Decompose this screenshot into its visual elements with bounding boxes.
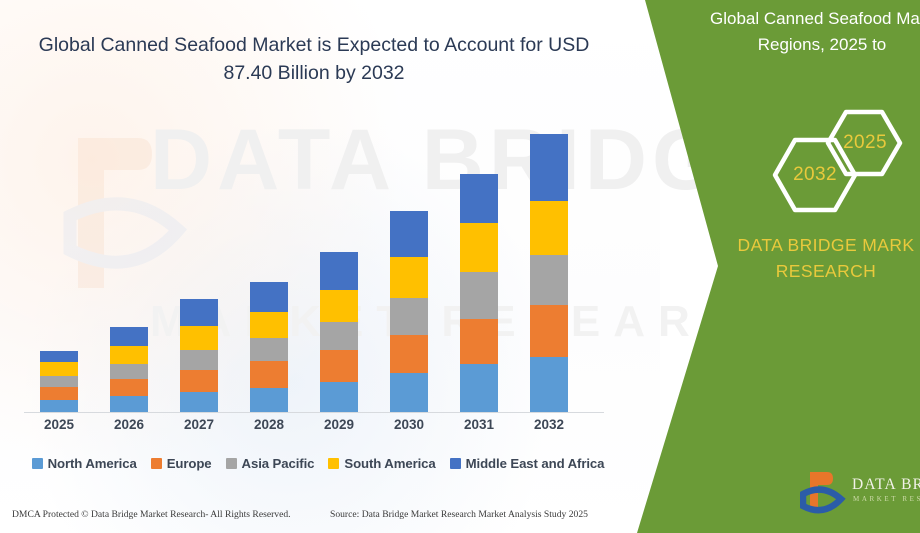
bar-group [250, 282, 288, 412]
legend-swatch-icon [328, 458, 339, 469]
page-title: Global Canned Seafood Market is Expected… [24, 32, 604, 87]
bar-segment [110, 346, 148, 364]
legend-item[interactable]: North America [32, 456, 137, 471]
bar-segment [180, 392, 218, 412]
hex-badge-2032: 2032 [784, 164, 846, 186]
x-axis-tick-label: 2025 [29, 417, 89, 432]
bar-segment [320, 322, 358, 350]
bar-group [460, 174, 498, 412]
hex-badge-2025: 2025 [834, 132, 896, 154]
legend-label: Middle East and Africa [466, 456, 605, 471]
footer-copyright: DMCA Protected © Data Bridge Market Rese… [12, 509, 291, 520]
x-axis-tick-label: 2029 [309, 417, 369, 432]
legend-item[interactable]: South America [328, 456, 435, 471]
panel-title: Global Canned Seafood Mark Regions, 2025… [672, 6, 920, 57]
bar-segment [460, 319, 498, 364]
bar-segment [250, 282, 288, 313]
bar-group [530, 134, 568, 412]
bar-segment [250, 361, 288, 387]
x-axis-tick-label: 2027 [169, 417, 229, 432]
x-axis-tick-label: 2026 [99, 417, 159, 432]
x-axis-tick-label: 2031 [449, 417, 509, 432]
bar-segment [320, 350, 358, 382]
bar-segment [180, 370, 218, 392]
bar-segment [40, 362, 78, 376]
bar-segment [40, 387, 78, 400]
bar-segment [390, 257, 428, 297]
bar-segment [110, 396, 148, 412]
bar-segment [180, 326, 218, 349]
panel-brand-line2: RESEARCH [676, 258, 920, 284]
panel-title-line2: Regions, 2025 to [672, 32, 920, 58]
logo-subtitle: MARKET RESEARCH [853, 495, 920, 503]
legend-swatch-icon [450, 458, 461, 469]
bar-segment [390, 373, 428, 412]
bar-segment [530, 201, 568, 255]
x-axis-tick-label: 2028 [239, 417, 299, 432]
plot-area [18, 110, 618, 413]
legend-label: Asia Pacific [242, 456, 315, 471]
x-axis-tick-label: 2032 [519, 417, 579, 432]
bar-segment [460, 272, 498, 318]
x-axis-labels: 20252026202720282029203020312032 [18, 417, 618, 441]
legend-label: North America [48, 456, 137, 471]
panel-brand-line1: DATA BRIDGE MARK [738, 235, 915, 255]
bar-segment [530, 134, 568, 200]
bar-segment [250, 388, 288, 412]
bar-segment [460, 223, 498, 272]
bar-segment [390, 335, 428, 373]
bar-segment [390, 298, 428, 335]
panel-brand: DATA BRIDGE MARK RESEARCH [676, 232, 920, 285]
bar-segment [460, 364, 498, 412]
legend-item[interactable]: Europe [151, 456, 212, 471]
legend-item[interactable]: Middle East and Africa [450, 456, 605, 471]
bar-group [110, 327, 148, 412]
stacked-bar-chart: 20252026202720282029203020312032 [18, 110, 618, 415]
bar-segment [460, 174, 498, 223]
legend-swatch-icon [226, 458, 237, 469]
bar-segment [390, 211, 428, 257]
bar-segment [250, 338, 288, 361]
legend-item[interactable]: Asia Pacific [226, 456, 315, 471]
bar-segment [320, 382, 358, 412]
bar-segment [320, 290, 358, 322]
footer-source: Source: Data Bridge Market Research Mark… [330, 509, 588, 520]
bar-segment [40, 351, 78, 362]
x-axis-line [24, 412, 604, 413]
bar-segment [180, 350, 218, 370]
legend-swatch-icon [151, 458, 162, 469]
legend-label: South America [344, 456, 435, 471]
bar-group [320, 252, 358, 412]
chart-legend: North AmericaEuropeAsia PacificSouth Ame… [18, 451, 618, 475]
hexagon-badges: 2032 2025 [740, 100, 920, 220]
legend-swatch-icon [32, 458, 43, 469]
bar-segment [110, 364, 148, 379]
bar-segment [530, 305, 568, 357]
bar-group [390, 211, 428, 412]
data-bridge-logo-icon [800, 468, 850, 516]
hexagon-outlines-icon [740, 100, 920, 220]
panel-title-line1: Global Canned Seafood Mark [710, 9, 920, 28]
bar-segment [250, 312, 288, 338]
infographic-canvas: DATA BRIDGE MARKET RESEARCH Global Canne… [0, 0, 920, 533]
footer: DMCA Protected © Data Bridge Market Rese… [0, 505, 660, 531]
bar-segment [530, 357, 568, 412]
bar-segment [110, 379, 148, 396]
bar-group [40, 351, 78, 412]
logo-wordmark: DATA BR [852, 476, 920, 494]
bar-segment [530, 255, 568, 305]
bar-group [180, 299, 218, 412]
bar-segment [180, 299, 218, 326]
bar-segment [110, 327, 148, 346]
bar-segment [40, 376, 78, 387]
bar-segment [320, 252, 358, 289]
legend-label: Europe [167, 456, 212, 471]
x-axis-tick-label: 2030 [379, 417, 439, 432]
bar-segment [40, 400, 78, 412]
